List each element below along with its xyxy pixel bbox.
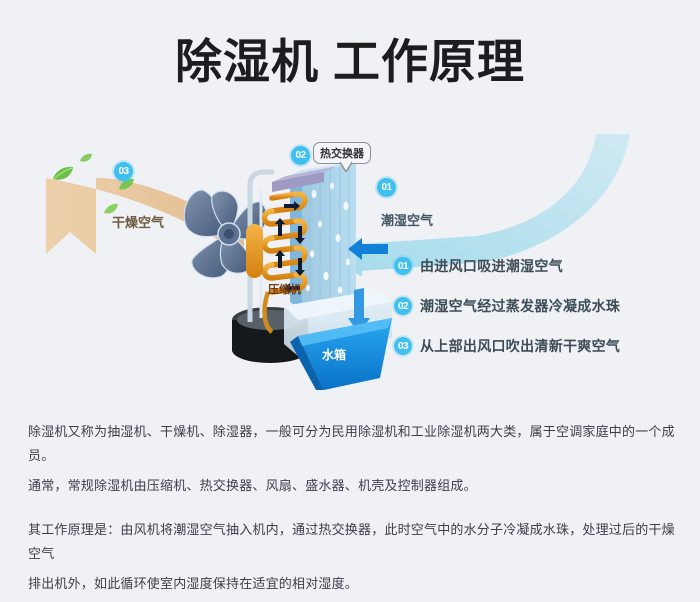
page-title-part-b: 工作原理 [333,35,525,88]
step-text-03: 从上部出风口吹出清新干爽空气 [420,336,620,356]
heat-exchanger-callout: 热交换器 [313,142,371,164]
callout-tail-icon [340,162,352,172]
list-item: 02 潮湿空气经过蒸发器冷凝成水珠 [394,296,684,316]
diagram-badge-03: 03 [114,162,133,181]
step-badge-02: 02 [394,297,412,315]
page-title: 除湿机工作原理 [0,34,700,90]
leaf-icon [80,150,93,168]
list-item: 01 由进风口吸进潮湿空气 [394,256,684,276]
heat-exchanger-callout-label: 热交换器 [320,148,364,160]
step-text-02: 潮湿空气经过蒸发器冷凝成水珠 [420,296,620,316]
paragraph-spacer [28,504,676,518]
water-tank-label: 水箱 [322,346,346,363]
list-item: 03 从上部出风口吹出清新干爽空气 [394,336,684,356]
diagram-badge-01: 01 [377,178,396,197]
description-paragraph-1-line-1: 除湿机又称为抽湿机、干燥机、除湿器，一般可分为民用除湿机和工业除湿机两大类，属于… [28,420,676,468]
humid-air-label: 潮湿空气 [381,210,433,229]
description-paragraph-1-line-2: 通常，常规除湿机由压缩机、热交换器、风扇、盛水器、机壳及控制器组成。 [28,474,676,498]
diagram-badge-02: 02 [291,146,310,165]
description-paragraph-2-line-1: 其工作原理是：由风机将潮湿空气抽入机内，通过热交换器，此时空气中的水分子冷凝成水… [28,518,676,566]
leaf-icon [52,166,74,187]
description-block: 除湿机又称为抽湿机、干燥机、除湿器，一般可分为民用除湿机和工业除湿机两大类，属于… [28,420,676,602]
page-title-part-a: 除湿机 [175,35,319,88]
compressor-label: 压缩机 [268,281,301,297]
step-badge-03: 03 [394,337,412,355]
step-badge-01: 01 [394,257,412,275]
infographic-page: 除湿机工作原理 [0,0,700,566]
description-paragraph-2-line-2: 排出机外，如此循环使室内湿度保持在适宜的相对湿度。 [28,572,676,596]
step-text-01: 由进风口吸进潮湿空气 [420,256,563,276]
steps-list: 01 由进风口吸进潮湿空气 02 潮湿空气经过蒸发器冷凝成水珠 03 从上部出风… [394,256,684,376]
dehumidifier-unit [228,150,393,400]
dry-air-label: 干燥空气 [112,212,164,231]
